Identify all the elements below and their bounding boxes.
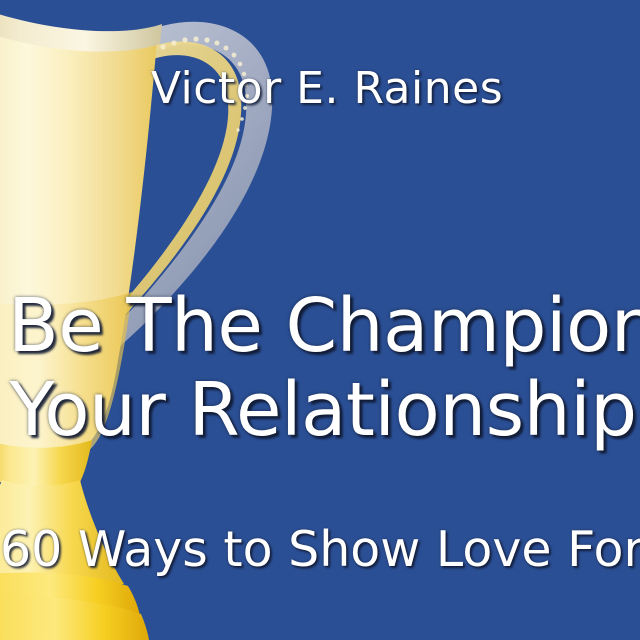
trophy-artwork [0, 0, 640, 640]
book-cover: Victor E. Raines Be The Champion of Your… [0, 0, 640, 640]
